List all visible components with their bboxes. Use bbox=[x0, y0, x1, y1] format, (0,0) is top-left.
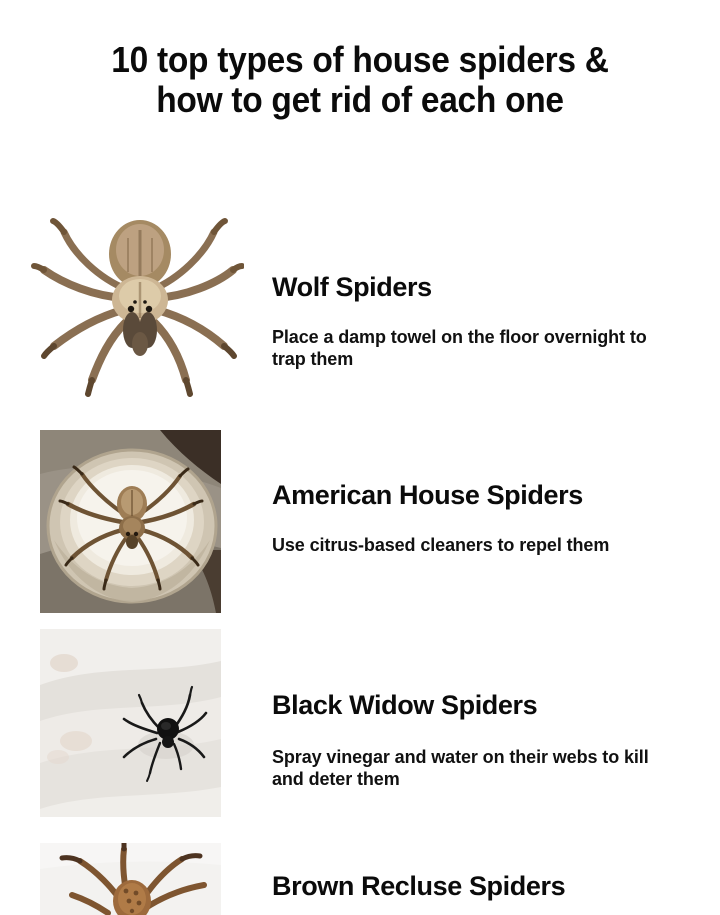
list-item: Wolf Spiders Place a damp towel on the f… bbox=[0, 188, 720, 403]
american-house-spider-photo bbox=[40, 430, 221, 613]
text-column: Brown Recluse Spiders bbox=[272, 828, 720, 901]
spider-list: Wolf Spiders Place a damp towel on the f… bbox=[0, 188, 720, 908]
spider-tip: Spray vinegar and water on their webs to… bbox=[272, 746, 652, 790]
text-column: Black Widow Spiders Spray vinegar and wa… bbox=[272, 612, 720, 790]
text-column: American House Spiders Use citrus-based … bbox=[272, 403, 720, 556]
wolf-spider-photo bbox=[28, 192, 244, 397]
spider-name: Wolf Spiders bbox=[272, 272, 660, 302]
spider-name: Black Widow Spiders bbox=[272, 690, 660, 720]
spider-tip: Use citrus-based cleaners to repel them bbox=[272, 534, 652, 556]
list-item: Brown Recluse Spiders bbox=[0, 828, 720, 908]
black-widow-spider-photo bbox=[40, 629, 221, 817]
page-title-line-1: 10 top types of house spiders & bbox=[70, 40, 650, 80]
page-title-line-2: how to get rid of each one bbox=[70, 80, 650, 120]
list-item: American House Spiders Use citrus-based … bbox=[0, 403, 720, 612]
spider-tip: Place a damp towel on the floor overnigh… bbox=[272, 326, 652, 370]
spider-name: Brown Recluse Spiders bbox=[272, 871, 660, 901]
spider-name: American House Spiders bbox=[272, 480, 660, 510]
page-title: 10 top types of house spiders & how to g… bbox=[0, 0, 720, 120]
text-column: Wolf Spiders Place a damp towel on the f… bbox=[272, 188, 720, 370]
brown-recluse-spider-photo bbox=[40, 843, 221, 915]
list-item: Black Widow Spiders Spray vinegar and wa… bbox=[0, 612, 720, 828]
